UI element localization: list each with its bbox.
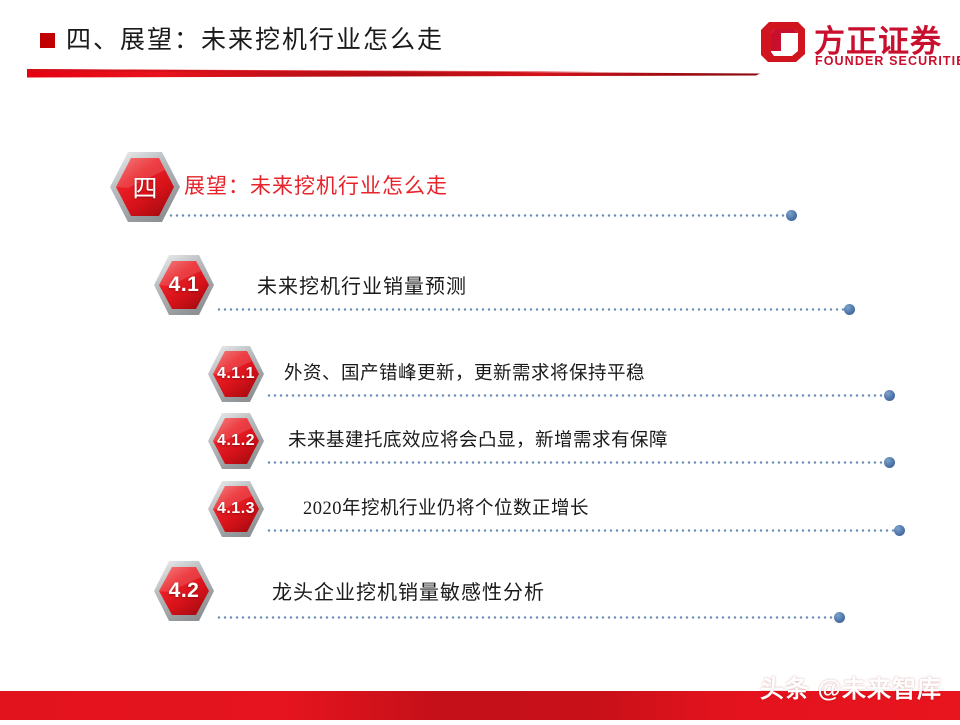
agenda-item-4-1-1[interactable]: 4.1.1 外资、国产错峰更新，更新需求将保持平稳 xyxy=(206,343,926,405)
agenda-list: 四 展望：未来挖机行业怎么走 xyxy=(0,0,960,720)
connector-end-dot xyxy=(834,612,845,623)
connector-end-dot xyxy=(786,210,797,221)
connector-dotted-line xyxy=(216,308,846,311)
agenda-item-4-2[interactable]: 4.2 龙头企业挖机销量敏感性分析 xyxy=(152,558,872,626)
connector-end-dot xyxy=(884,457,895,468)
agenda-item-4-1-3[interactable]: 4.1.3 2020年挖机行业仍将个位数正增长 xyxy=(206,478,926,540)
connector-dotted-line xyxy=(266,394,886,397)
connector-end-dot xyxy=(894,525,905,536)
hex-badge-4-2: 4.2 xyxy=(152,558,216,624)
agenda-item-label: 未来挖机行业销量预测 xyxy=(257,270,467,299)
connector-end-dot xyxy=(884,390,895,401)
agenda-item-label: 未来基建托底效应将会凸显，新增需求有保障 xyxy=(288,426,668,452)
agenda-item-section[interactable]: 四 展望：未来挖机行业怎么走 xyxy=(108,148,808,228)
connector-end-dot xyxy=(844,304,855,315)
agenda-item-4-1-2[interactable]: 4.1.2 未来基建托底效应将会凸显，新增需求有保障 xyxy=(206,410,926,472)
connector-dotted-line xyxy=(266,529,896,532)
hex-badge-4-1-3: 4.1.3 xyxy=(206,478,266,540)
hex-badge-4-1-2: 4.1.2 xyxy=(206,410,266,472)
watermark-text: 头条 @未来智库 xyxy=(760,669,942,704)
hex-badge-4-1: 4.1 xyxy=(152,252,216,318)
connector-dotted-line xyxy=(266,461,886,464)
hex-badge-4-1-1: 4.1.1 xyxy=(206,343,266,405)
agenda-item-label: 2020年挖机行业仍将个位数正增长 xyxy=(303,494,589,520)
agenda-item-label: 展望：未来挖机行业怎么走 xyxy=(184,170,448,200)
agenda-item-label: 外资、国产错峰更新，更新需求将保持平稳 xyxy=(284,359,645,385)
connector-dotted-line xyxy=(216,616,836,619)
connector-dotted-line xyxy=(168,214,788,217)
agenda-item-label: 龙头企业挖机销量敏感性分析 xyxy=(272,576,545,605)
agenda-item-4-1[interactable]: 4.1 未来挖机行业销量预测 xyxy=(152,252,872,320)
